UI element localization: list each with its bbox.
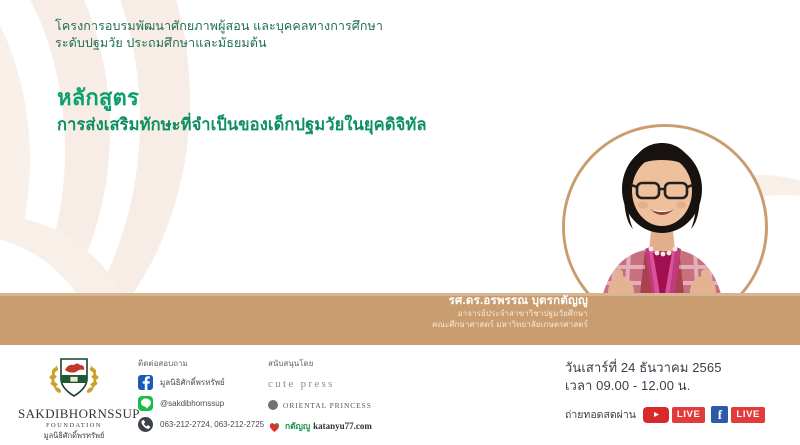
oriental-princess-logo (268, 400, 278, 410)
sponsor-oriental-princess: ORIENTAL PRINCESS (268, 396, 438, 414)
poster-canvas: โครงการอบรมพัฒนาศักยภาพผู้สอน และบุคคลทา… (0, 0, 800, 445)
phone-icon (138, 417, 153, 432)
contact-phone-label: 063-212-2724, 063-212-2725 (160, 420, 264, 429)
broadcast-label: ถ่ายทอดสดผ่าน (565, 406, 636, 423)
katanyu-url-label[interactable]: katanyu77.com (313, 421, 372, 431)
foundation-name: SAKDIBHORNSSUP (18, 406, 130, 422)
footer: SAKDIBHORNSSUP FOUNDATION มูลนิธิศักดิ์พ… (0, 345, 800, 445)
event-date: วันเสาร์ที่ 24 ธันวาคม 2565 (565, 359, 795, 377)
cute-press-logo: cute press (268, 378, 335, 390)
broadcast-row: ถ่ายทอดสดผ่าน LIVE f LIVE (565, 406, 795, 423)
youtube-play-icon[interactable] (643, 407, 669, 423)
sponsors-heading: สนับสนุนโดย (268, 357, 438, 370)
line-icon (138, 396, 153, 411)
program-intro-line2: ระดับปฐมวัย ประถมศึกษาและมัธยมต้น (55, 36, 267, 50)
foundation-subtitle: FOUNDATION (18, 422, 130, 429)
foundation-name-thai: มูลนิธิศักดิ์พรทรัพย์ (18, 430, 130, 442)
contact-item-facebook[interactable]: มูลนิธิศักดิ์พรทรัพย์ (138, 375, 268, 390)
program-intro: โครงการอบรมพัฒนาศักยภาพผู้สอน และบุคคลทา… (55, 18, 383, 52)
contact-section: ติดต่อสอบถาม มูลนิธิศักดิ์พรทรัพย์ @sakd… (138, 357, 268, 438)
portrait-illustration (565, 127, 759, 321)
schedule-section: วันเสาร์ที่ 24 ธันวาคม 2565 เวลา 09.00 -… (565, 359, 795, 423)
facebook-icon (138, 375, 153, 390)
course-kicker: หลักสูตร (57, 80, 139, 115)
page-title: การส่งเสริมทักษะที่จำเป็นของเด็กปฐมวัยใน… (57, 112, 427, 138)
contact-facebook-label: มูลนิธิศักดิ์พรทรัพย์ (160, 376, 225, 389)
event-time: เวลา 09.00 - 12.00 น. (565, 377, 795, 395)
speaker-role: อาจารย์ประจำสาขาวิชาปฐมวัยศึกษา (300, 308, 588, 319)
speaker-caption: รศ.ดร.อรพรรณ บุตรกตัญญู อาจารย์ประจำสาขา… (300, 294, 588, 330)
facebook-f-icon[interactable]: f (711, 406, 728, 423)
katanyu-logo (268, 420, 281, 433)
katanyu-thai-label: กตัญญู (285, 419, 310, 433)
sponsors-section: สนับสนุนโดย cute press ORIENTAL PRINCESS… (268, 357, 438, 438)
sponsor-cute-press: cute press (268, 375, 438, 393)
speaker-name: รศ.ดร.อรพรรณ บุตรกตัญญู (300, 294, 588, 308)
youtube-live-badge[interactable]: LIVE (672, 407, 706, 423)
shield-crest-horse-icon (45, 355, 103, 399)
foundation-logo: SAKDIBHORNSSUP FOUNDATION มูลนิธิศักดิ์พ… (18, 355, 130, 442)
contact-line-label: @sakdibhornssup (160, 399, 224, 408)
contact-item-line[interactable]: @sakdibhornssup (138, 396, 268, 411)
contact-heading: ติดต่อสอบถาม (138, 357, 268, 370)
facebook-live-badge[interactable]: LIVE (731, 407, 765, 423)
program-intro-line1: โครงการอบรมพัฒนาศักยภาพผู้สอน และบุคคลทา… (55, 19, 383, 33)
oriental-princess-label: ORIENTAL PRINCESS (283, 401, 372, 410)
contact-item-phone[interactable]: 063-212-2724, 063-212-2725 (138, 417, 268, 432)
speaker-affiliation: คณะศึกษาศาสตร์ มหาวิทยาลัยเกษตรศาสตร์ (300, 319, 588, 330)
sponsor-katanyu: กตัญญู katanyu77.com (268, 417, 438, 435)
